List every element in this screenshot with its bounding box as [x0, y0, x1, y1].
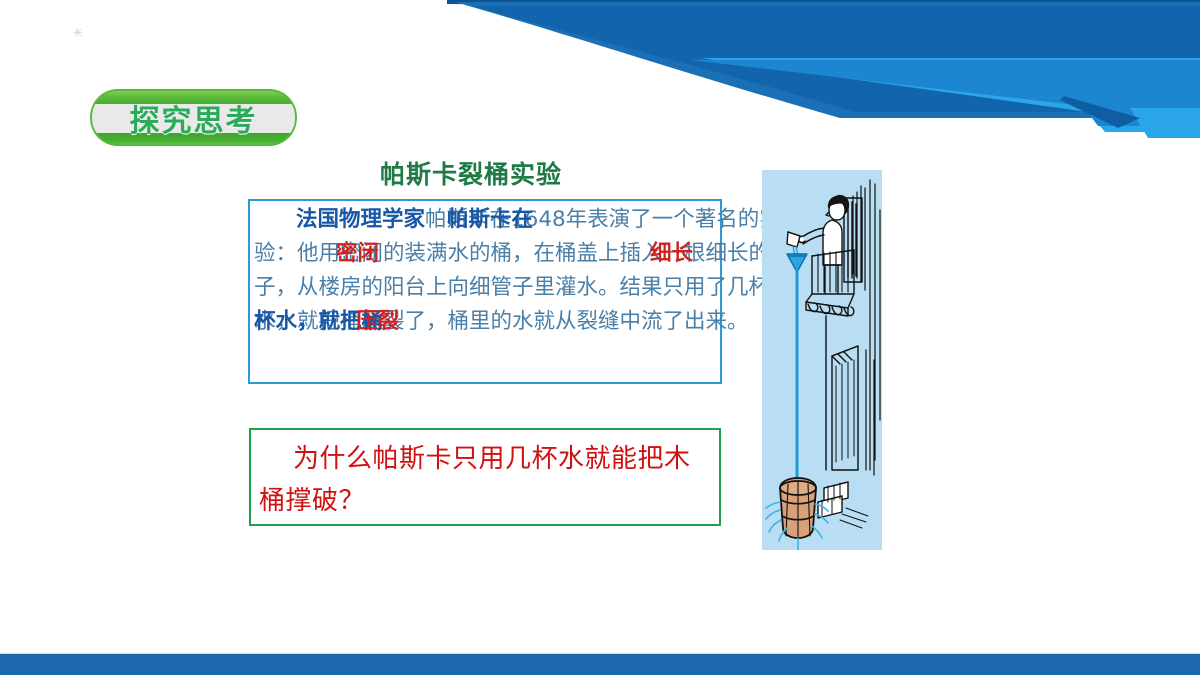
overlay-text-6: 压裂	[356, 305, 399, 339]
overlay-text-4: 细长	[650, 237, 693, 271]
doorway	[826, 316, 858, 470]
building-wall-lines	[853, 180, 880, 475]
overlay-text-3: 密闭	[336, 237, 379, 271]
overlay-text-1: 法国物理学家	[296, 203, 425, 237]
section-badge[interactable]: 探究思考	[90, 89, 297, 146]
corner-asterisk-icon: ✳	[71, 27, 85, 41]
question-box: 为什么帕斯卡只用几杯水就能把木桶撑破？	[249, 428, 721, 526]
banner-sliver-dark	[447, 0, 1200, 8]
banner-tail	[1130, 108, 1200, 138]
banner-sheet-main	[455, 2, 1200, 118]
banner-sheet-mid	[470, 6, 1200, 112]
bottom-bar	[0, 654, 1200, 675]
slide-canvas: ✳ 探究思考 帕斯卡裂桶实验 法国物理学家帕斯卡在1648年表演了一个著名的实验…	[0, 0, 1200, 675]
illustration-panel	[762, 170, 882, 550]
question-text: 为什么帕斯卡只用几杯水就能把木桶撑破？	[259, 438, 714, 522]
page-title: 帕斯卡裂桶实验	[380, 155, 562, 191]
banner-sheet-lower	[690, 60, 1200, 126]
badge-label: 探究思考	[90, 96, 297, 140]
pascal-barrel-illustration	[762, 170, 882, 550]
banner-notch	[1060, 96, 1140, 128]
banner-sheet-cyan	[700, 58, 1200, 132]
overlay-text-2: 帕斯卡在	[447, 203, 533, 237]
water-cup	[787, 232, 800, 247]
balcony	[806, 250, 854, 316]
paragraph-text-layer: 法国物理学家帕斯卡在1648年表演了一个著名的实验：他用密闭的装满水的桶，在桶盖…	[250, 200, 810, 383]
